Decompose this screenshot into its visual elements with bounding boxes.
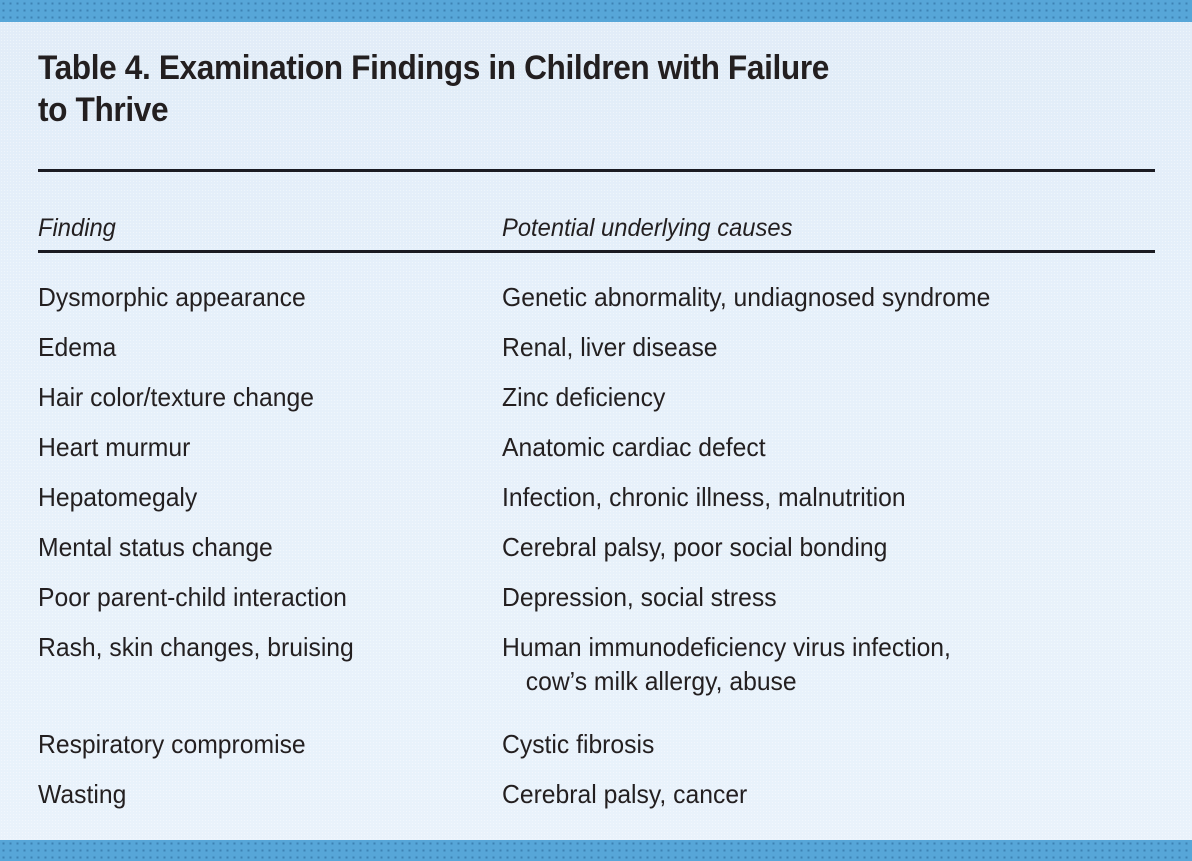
cell-cause: Renal, liver disease (502, 330, 718, 364)
cell-cause-line1: Human immunodeficiency virus infection, (502, 632, 951, 662)
cell-cause: Cystic fibrosis (502, 727, 654, 761)
table-row: Hair color/texture change Zinc deficienc… (0, 380, 1192, 430)
table-body: Dysmorphic appearance Genetic abnormalit… (0, 280, 1192, 827)
table-row: Dysmorphic appearance Genetic abnormalit… (0, 280, 1192, 330)
cell-finding: Wasting (38, 777, 126, 811)
table-row: Hepatomegaly Infection, chronic illness,… (0, 480, 1192, 530)
table-header-rule (38, 250, 1155, 253)
page-title: Table 4. Examination Findings in Childre… (38, 47, 1033, 131)
cell-cause: Depression, social stress (502, 580, 777, 614)
bottom-accent-bar (0, 840, 1192, 861)
cell-cause: Anatomic cardiac defect (502, 430, 766, 464)
cell-finding: Edema (38, 330, 116, 364)
table-content: Table 4. Examination Findings in Childre… (0, 22, 1192, 840)
cell-finding: Hair color/texture change (38, 380, 314, 414)
cell-cause: Infection, chronic illness, malnutrition (502, 480, 906, 514)
cell-cause-line2: cow’s milk allergy, abuse (502, 664, 951, 698)
cell-cause: Cerebral palsy, poor social bonding (502, 530, 887, 564)
cell-cause: Genetic abnormality, undiagnosed syndrom… (502, 280, 990, 314)
table-top-rule (38, 169, 1155, 172)
cell-finding: Poor parent-child interaction (38, 580, 347, 614)
table-row: Edema Renal, liver disease (0, 330, 1192, 380)
cell-finding: Dysmorphic appearance (38, 280, 306, 314)
cell-cause: Human immunodeficiency virus infection, … (502, 630, 951, 698)
top-accent-bar (0, 0, 1192, 22)
table-row: Rash, skin changes, bruising Human immun… (0, 630, 1192, 727)
table-row: Respiratory compromise Cystic fibrosis (0, 727, 1192, 777)
cell-finding: Rash, skin changes, bruising (38, 630, 354, 664)
table-row: Heart murmur Anatomic cardiac defect (0, 430, 1192, 480)
table-card: Table 4. Examination Findings in Childre… (0, 0, 1192, 861)
table-row: Poor parent-child interaction Depression… (0, 580, 1192, 630)
cell-finding: Heart murmur (38, 430, 190, 464)
cell-cause: Cerebral palsy, cancer (502, 777, 747, 811)
table-row: Mental status change Cerebral palsy, poo… (0, 530, 1192, 580)
column-header-causes: Potential underlying causes (502, 214, 792, 243)
cell-cause: Zinc deficiency (502, 380, 665, 414)
cell-finding: Respiratory compromise (38, 727, 306, 761)
table-row: Wasting Cerebral palsy, cancer (0, 777, 1192, 827)
column-header-finding: Finding (38, 214, 116, 243)
cell-finding: Mental status change (38, 530, 273, 564)
cell-finding: Hepatomegaly (38, 480, 197, 514)
